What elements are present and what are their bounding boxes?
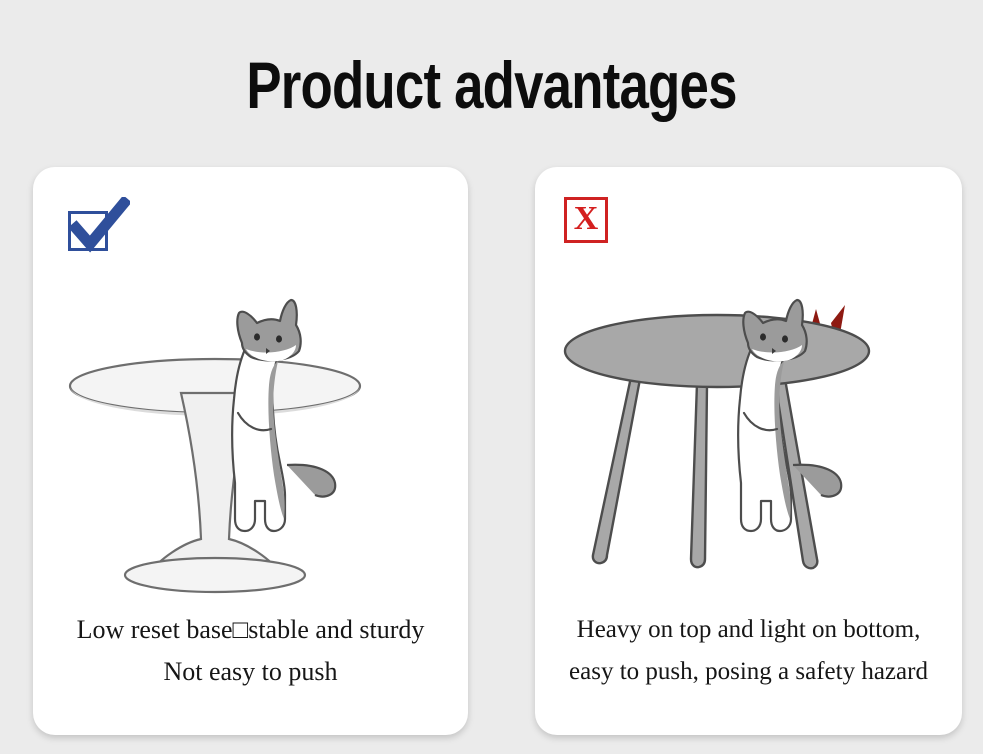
cat-figure-good [232,300,335,531]
page-title: Product advantages [98,49,884,121]
caption-bad: Heavy on top and light on bottom, easy t… [535,609,962,693]
three-legged-table [565,315,869,568]
x-glyph: X [564,197,608,243]
table-top [565,315,869,387]
caption-line-1: Heavy on top and light on bottom, [535,609,962,651]
advantage-card-good: Low reset base□stable and sturdy Not eas… [33,167,468,735]
checkbox-checked-icon [66,197,130,257]
caption-line-1: Low reset base□stable and sturdy [33,609,468,651]
caption-line-2: easy to push, posing a safety hazard [535,651,962,693]
x-mark-icon: X [564,197,616,249]
pedestal-table-illustration [33,287,468,617]
three-legged-table-illustration [535,287,962,617]
caption-line-2: Not easy to push [33,651,468,693]
blue-check-icon [66,197,130,257]
caption-good: Low reset base□stable and sturdy Not eas… [33,609,468,693]
table-leg-center [691,383,707,567]
advantage-card-bad: X [535,167,962,735]
table-leg-left [593,377,640,563]
